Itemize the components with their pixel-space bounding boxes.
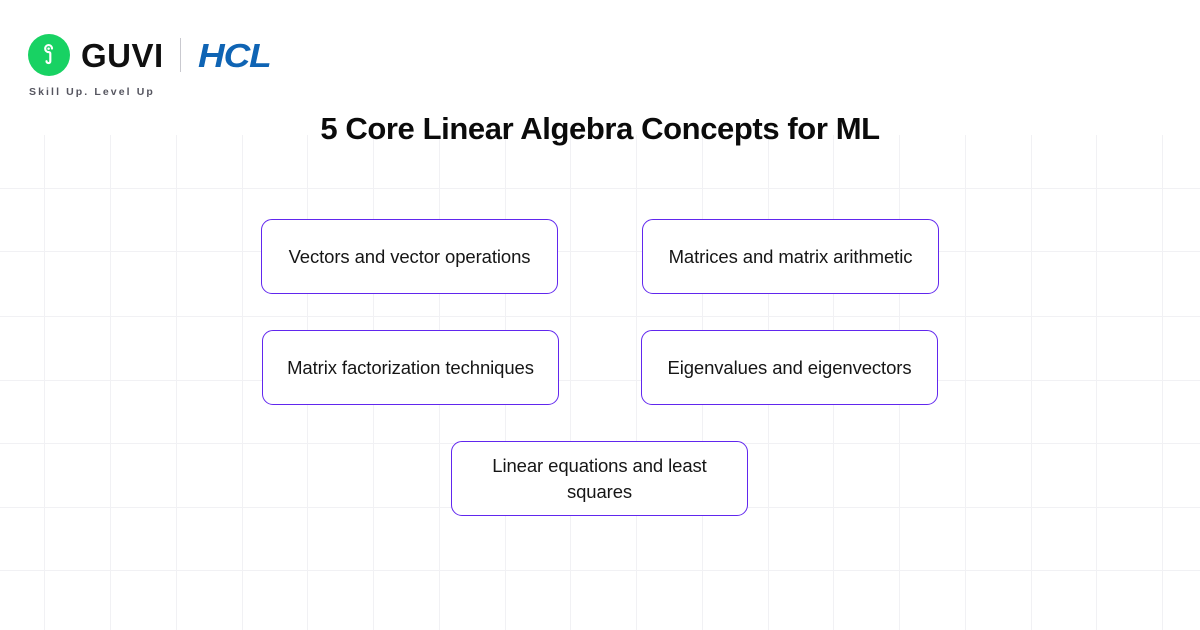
brand-tagline: Skill Up. Level Up [29, 87, 155, 98]
grid-line-horizontal [0, 570, 1200, 571]
grid-line-vertical [44, 135, 45, 630]
grid-line-vertical [965, 135, 966, 630]
grid-line-horizontal [0, 188, 1200, 189]
grid-line-horizontal [0, 380, 1200, 381]
concept-card-1: Vectors and vector operations [261, 219, 558, 294]
concept-card-2: Matrices and matrix arithmetic [642, 219, 939, 294]
grid-line-vertical [570, 135, 571, 630]
infographic-canvas: GUVI HCL Skill Up. Level Up 5 Core Linea… [0, 0, 1200, 630]
concept-card-label: Linear equations and least squares [466, 453, 733, 504]
hcl-wordmark: HCL [198, 39, 271, 72]
concept-card-3: Matrix factorization techniques [262, 330, 559, 405]
grid-line-vertical [636, 135, 637, 630]
concept-card-label: Vectors and vector operations [289, 244, 531, 270]
guvi-g-mark-icon [28, 34, 70, 76]
grid-line-horizontal [0, 316, 1200, 317]
guvi-wordmark: GUVI [81, 39, 164, 72]
grid-line-vertical [1096, 135, 1097, 630]
grid-line-horizontal [0, 251, 1200, 252]
concept-card-label: Matrix factorization techniques [287, 355, 534, 381]
grid-line-vertical [242, 135, 243, 630]
brand-lockup: GUVI HCL Skill Up. Level Up [28, 33, 263, 98]
concept-card-4: Eigenvalues and eigenvectors [641, 330, 938, 405]
brand-divider [180, 38, 181, 72]
brand-logo-row: GUVI HCL [28, 33, 263, 77]
grid-line-vertical [110, 135, 111, 630]
concept-card-label: Eigenvalues and eigenvectors [667, 355, 911, 381]
grid-line-vertical [1162, 135, 1163, 630]
page-title: 5 Core Linear Algebra Concepts for ML [0, 110, 1200, 149]
grid-line-vertical [176, 135, 177, 630]
concept-card-5: Linear equations and least squares [451, 441, 748, 516]
grid-line-vertical [1031, 135, 1032, 630]
concept-card-label: Matrices and matrix arithmetic [669, 244, 913, 270]
